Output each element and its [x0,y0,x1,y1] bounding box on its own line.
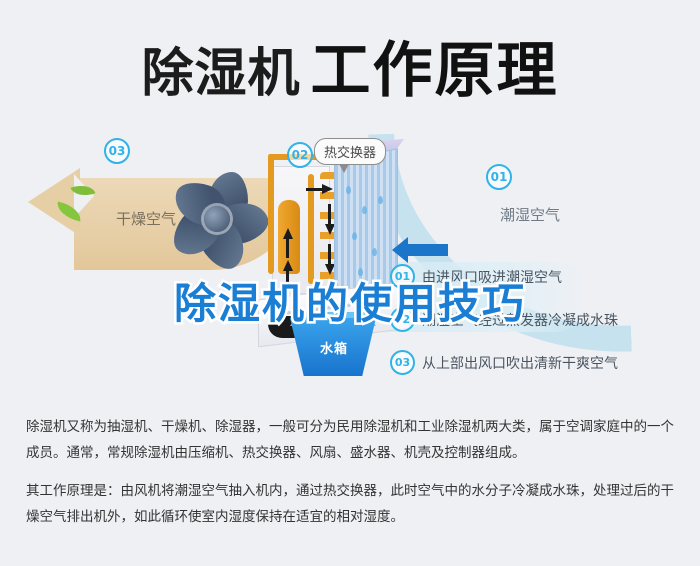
water-tank-label: 水箱 [320,338,348,357]
diagram-label-dry-air: 干燥空气 [116,208,176,229]
flow-arrow-stem [328,204,331,224]
step-number-badge: 03 [390,350,415,375]
water-droplet [378,196,383,204]
diagram-badge-02: 02 [287,142,313,168]
fan-hub [204,206,230,232]
flow-arrow-right-icon [322,184,333,194]
flow-arrow-stem [328,244,331,264]
water-droplet [346,186,351,194]
diagram-badge-01: 01 [486,164,512,190]
flow-arrow-up-icon [283,228,293,239]
body-paragraph-1: 除湿机又称为抽湿机、干燥机、除湿器，一般可分为民用除湿机和工业除湿机两大类，属于… [26,414,676,466]
page-root: 除湿机工作原理 [0,0,700,566]
diagram-callout-heat-exchanger: 热交换器 [314,138,386,165]
overlay-headline: 除湿机的使用技巧 [0,270,700,331]
page-title-part2: 工作原理 [311,36,559,106]
step-text: 从上部出风口吹出清新干爽空气 [422,353,618,373]
dry-airflow-arrowhead [28,168,80,236]
article-body: 除湿机又称为抽湿机、干燥机、除湿器，一般可分为民用除湿机和工业除湿机两大类，属于… [26,414,676,542]
flow-arrow-stem [306,188,322,191]
page-title: 除湿机工作原理 [0,22,700,109]
body-paragraph-2: 其工作原理是：由风机将潮湿空气抽入机内，通过热交换器，此时空气中的水分子冷凝成水… [26,478,676,530]
water-droplet [362,206,367,214]
working-principle-diagram: 水箱 03 干燥空气 02 热交换器 01 潮湿空气 01 由进风口吸进潮湿空气… [0,112,700,400]
water-droplet [372,248,377,256]
page-title-part1: 除湿机 [141,44,300,104]
refrigerant-pipe [268,154,274,274]
step-item: 03 从上部出风口吹出清新干爽空气 [390,350,690,375]
intake-airflow-arrow-icon [408,244,448,256]
diagram-badge-03: 03 [104,138,130,164]
diagram-label-humid-air: 潮湿空气 [500,204,560,225]
water-droplet [352,232,357,240]
flow-arrow-stem [286,236,289,258]
